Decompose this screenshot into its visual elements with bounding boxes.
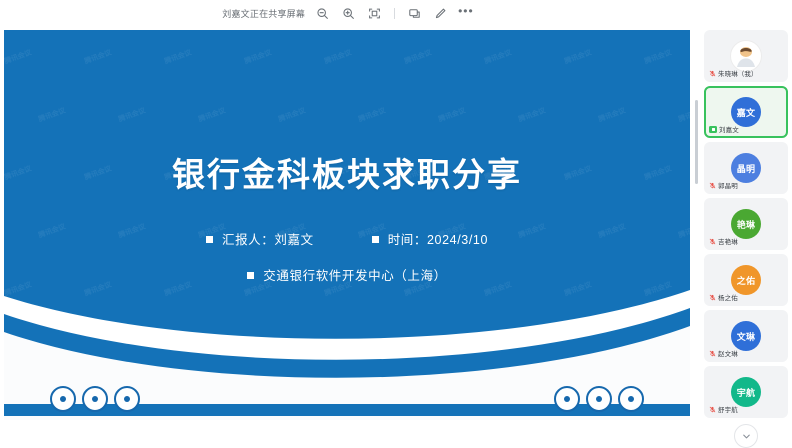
share-control-icon[interactable] xyxy=(406,5,423,22)
circle-dot-icon xyxy=(50,386,76,412)
avatar: 嘉文 xyxy=(731,97,761,127)
zoom-in-icon[interactable] xyxy=(340,5,357,22)
participant-namebar: 朱晓琳（我） xyxy=(709,68,758,78)
fit-screen-icon[interactable] xyxy=(366,5,383,22)
shared-content-stage[interactable]: 腾讯会议腾讯会议腾讯会议腾讯会议腾讯会议腾讯会议腾讯会议腾讯会议腾讯会议腾讯会议… xyxy=(0,26,694,442)
participant-namebar: 舒宇航 xyxy=(709,404,738,414)
avatar: 之佑 xyxy=(731,265,761,295)
presentation-slide: 腾讯会议腾讯会议腾讯会议腾讯会议腾讯会议腾讯会议腾讯会议腾讯会议腾讯会议腾讯会议… xyxy=(4,30,690,430)
mic-muted-icon xyxy=(709,70,716,77)
participant-name: 杨之佑 xyxy=(718,292,738,302)
circle-dot-icon xyxy=(114,386,140,412)
mic-muted-icon xyxy=(709,350,716,357)
toolbar-divider xyxy=(394,8,395,19)
avatar: 艳琳 xyxy=(731,209,761,239)
share-toolbar: 刘嘉文正在共享屏幕 xyxy=(0,0,792,26)
bullet-square-icon xyxy=(372,236,379,243)
content-scrollbar[interactable] xyxy=(695,30,698,438)
participant-tile[interactable]: 宇航舒宇航 xyxy=(704,366,788,418)
slide-meta-row: 汇报人：刘嘉文 时间：2024/3/10 xyxy=(4,229,690,248)
participant-tile[interactable]: 晶明郭晶明 xyxy=(704,142,788,194)
mic-muted-icon xyxy=(709,238,716,245)
participant-tile[interactable]: 之佑杨之佑 xyxy=(704,254,788,306)
avatar: 宇航 xyxy=(731,377,761,407)
decor-circles-right xyxy=(554,386,644,412)
participant-namebar: 郭晶明 xyxy=(709,180,738,190)
circle-dot-icon xyxy=(586,386,612,412)
participant-name: 吉艳琳 xyxy=(718,236,738,246)
sharing-notice-label: 刘嘉文正在共享屏幕 xyxy=(222,7,305,20)
circle-dot-icon xyxy=(554,386,580,412)
circle-dot-icon xyxy=(618,386,644,412)
participant-tile[interactable]: 嘉文刘嘉文 xyxy=(704,86,788,138)
participant-name: 朱晓琳（我） xyxy=(718,68,758,78)
avatar: 文琳 xyxy=(731,321,761,351)
scroll-down-chevron-icon[interactable] xyxy=(734,424,758,448)
participant-sidebar: 朱晓琳（我）嘉文刘嘉文晶明郭晶明艳琳吉艳琳之佑杨之佑文琳赵文琳宇航舒宇航 xyxy=(700,26,792,442)
circle-dot-icon xyxy=(82,386,108,412)
presenter-label: 汇报人：刘嘉文 xyxy=(206,229,314,248)
mic-muted-icon xyxy=(709,406,716,413)
participant-name: 郭晶明 xyxy=(718,180,738,190)
participant-namebar: 杨之佑 xyxy=(709,292,738,302)
participant-namebar: 吉艳琳 xyxy=(709,236,738,246)
slide-title: 银行金科板块求职分享 xyxy=(4,148,690,196)
more-options-icon[interactable]: ••• xyxy=(458,8,474,19)
participant-tile[interactable]: 文琳赵文琳 xyxy=(704,310,788,362)
screen-share-icon xyxy=(709,126,717,133)
decor-circles-left xyxy=(50,386,140,412)
participant-namebar: 赵文琳 xyxy=(709,348,738,358)
participant-name: 舒宇航 xyxy=(718,404,738,414)
meeting-screen-share-window: 刘嘉文正在共享屏幕 xyxy=(0,0,792,442)
avatar: 晶明 xyxy=(731,153,761,183)
mic-muted-icon xyxy=(709,182,716,189)
participant-tile[interactable]: 朱晓琳（我） xyxy=(704,30,788,82)
bullet-square-icon xyxy=(206,236,213,243)
date-label: 时间：2024/3/10 xyxy=(372,229,488,248)
participant-namebar: 刘嘉文 xyxy=(709,124,739,134)
participant-name: 刘嘉文 xyxy=(719,124,739,134)
mic-muted-icon xyxy=(709,294,716,301)
bullet-square-icon xyxy=(247,272,254,279)
participant-name: 赵文琳 xyxy=(718,348,738,358)
participant-tile[interactable]: 艳琳吉艳琳 xyxy=(704,198,788,250)
zoom-out-icon[interactable] xyxy=(314,5,331,22)
annotate-pencil-icon[interactable] xyxy=(432,5,449,22)
